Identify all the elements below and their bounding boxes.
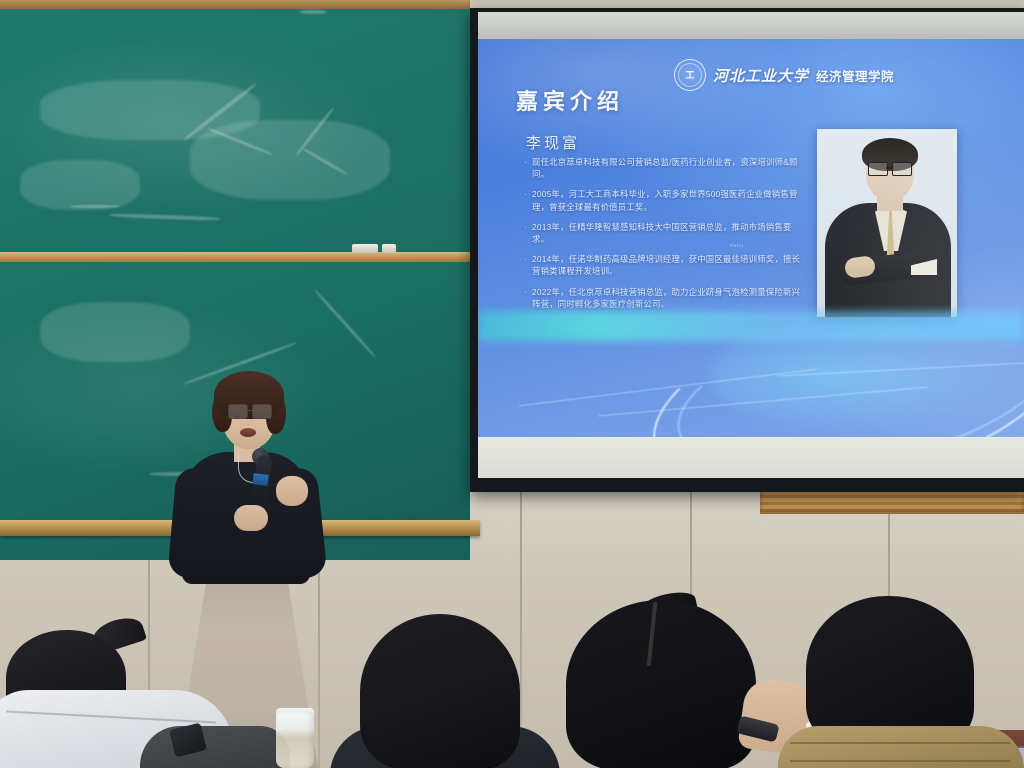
blackboard-top-trim [0,0,470,9]
student-dark-sleeve [140,726,290,768]
guest-portrait-photo [817,129,957,317]
list-item: · 2005年，河工大工商本科毕业，入职多家世界500强医药企业做销售管理，曾获… [524,188,802,212]
bullet-marker: · [524,253,527,277]
list-item [360,614,520,768]
speaker-lower-hand [234,505,268,531]
slide-title: 嘉宾介绍 [516,84,624,116]
bullet-text: 2005年，河工大工商本科毕业，入职多家世界500强医药企业做销售管理，曾获全球… [532,188,802,212]
slide-swoosh-decoration [478,297,1024,437]
screen-bottom-band [478,437,1024,478]
bullet-text: 2014年，任诺华制药高级品牌培训经理，获中国区最佳培训师奖，擅长营销类课程开发… [532,253,802,277]
eraser[interactable] [352,244,378,253]
bullet-text: 2013年，任精华隆智慧感知科技大中国区营销总监，推动市场销售要求。 [532,221,802,245]
school-name: 经济管理学院 [816,66,894,85]
lecture-photo-scene: 工 河北工业大学 经济管理学院 嘉宾介绍 李现富 · 现任北京荩卓科技有限公司营… [0,0,1024,768]
student-tan-vest [778,726,1024,768]
speaker-glasses-icon [228,404,272,417]
list-item: · 2013年，任精华隆智慧感知科技大中国区营销总监，推动市场销售要求。 [524,221,802,245]
university-seal-icon: 工 [674,59,706,91]
portrait-glasses-icon [868,162,912,174]
bullet-marker: · [524,156,527,180]
bullet-text: 现任北京荩卓科技有限公司营销总监/医药行业创业者，资深培训师&顾问。 [532,156,802,180]
list-item: · 现任北京荩卓科技有限公司营销总监/医药行业创业者，资深培训师&顾问。 [524,156,802,180]
bio-bullet-list: · 现任北京荩卓科技有限公司营销总监/医药行业创业者，资深培训师&顾问。 · 2… [524,156,802,318]
list-item: · 2014年，任诺华制药高级品牌培训经理，获中国区最佳培训师奖，擅长营销类课程… [524,253,802,277]
chalk-stick[interactable] [382,244,396,253]
presentation-slide: 工 河北工业大学 经济管理学院 嘉宾介绍 李现富 · 现任北京荩卓科技有限公司营… [478,39,1024,437]
guest-name: 李现富 [526,132,580,153]
university-name: 河北工业大学 [713,65,809,86]
speaker-upper-hand [276,476,308,506]
wall-seam [520,470,522,768]
seal-glyph: 工 [685,71,694,80]
water-bottle[interactable] [276,712,314,768]
university-logo: 工 河北工业大学 经济管理学院 [674,59,894,91]
bullet-marker: · [524,188,527,212]
slide-watermark: Ref11 [730,243,744,248]
projector-screen: 工 河北工业大学 经济管理学院 嘉宾介绍 李现富 · 现任北京荩卓科技有限公司营… [478,12,1024,478]
screen-top-band [478,12,1024,40]
speaker-mouth [240,428,256,437]
list-item [566,600,756,768]
microphone-blue-band [252,473,268,486]
bullet-marker: · [524,221,527,245]
